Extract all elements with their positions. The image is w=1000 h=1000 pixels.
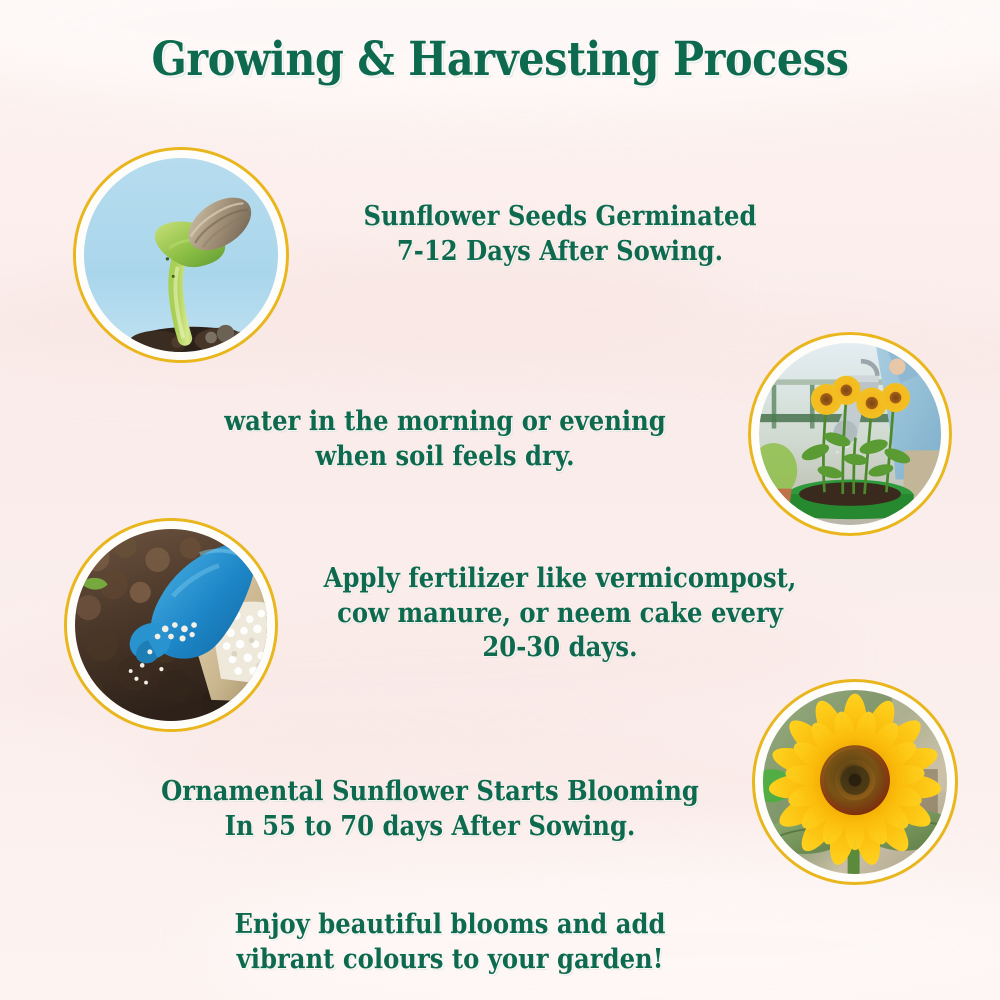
step-line: Ornamental Sunflower Starts Blooming xyxy=(138,775,723,810)
step-line: Sunflower Seeds Germinated xyxy=(326,200,794,235)
step-line: Enjoy beautiful blooms and add xyxy=(194,908,707,943)
step-line: vibrant colours to your garden! xyxy=(194,943,707,978)
step-line: water in the morning or evening xyxy=(202,405,688,440)
step-text-blooming: Ornamental Sunflower Starts Blooming In … xyxy=(138,775,723,844)
photo-image xyxy=(75,529,267,721)
step-line: 20-30 days. xyxy=(308,631,812,666)
blooming-sunflower-photo xyxy=(752,679,958,885)
step-line: when soil feels dry. xyxy=(202,440,688,475)
step-text-watering: water in the morning or evening when soi… xyxy=(202,405,688,474)
step-line: Apply fertilizer like vermicompost, xyxy=(308,562,812,597)
step-line: cow manure, or neem cake every xyxy=(308,597,812,632)
page-title: Growing & Harvesting Process xyxy=(60,32,940,87)
step-line: 7-12 Days After Sowing. xyxy=(326,235,794,270)
step-text-closing: Enjoy beautiful blooms and add vibrant c… xyxy=(194,908,707,977)
sunflower-seedling-photo xyxy=(73,147,289,363)
fertilizer-application-photo xyxy=(64,518,278,732)
photo-image xyxy=(84,158,278,352)
poster-canvas: Growing & Harvesting Process xyxy=(0,0,1000,1000)
photo-image xyxy=(759,343,941,525)
photo-image xyxy=(763,690,947,874)
watering-sunflowers-photo xyxy=(748,332,952,536)
step-text-germination: Sunflower Seeds Germinated 7-12 Days Aft… xyxy=(326,200,794,269)
step-line: In 55 to 70 days After Sowing. xyxy=(138,810,723,845)
step-text-fertilizing: Apply fertilizer like vermicompost, cow … xyxy=(308,562,812,666)
